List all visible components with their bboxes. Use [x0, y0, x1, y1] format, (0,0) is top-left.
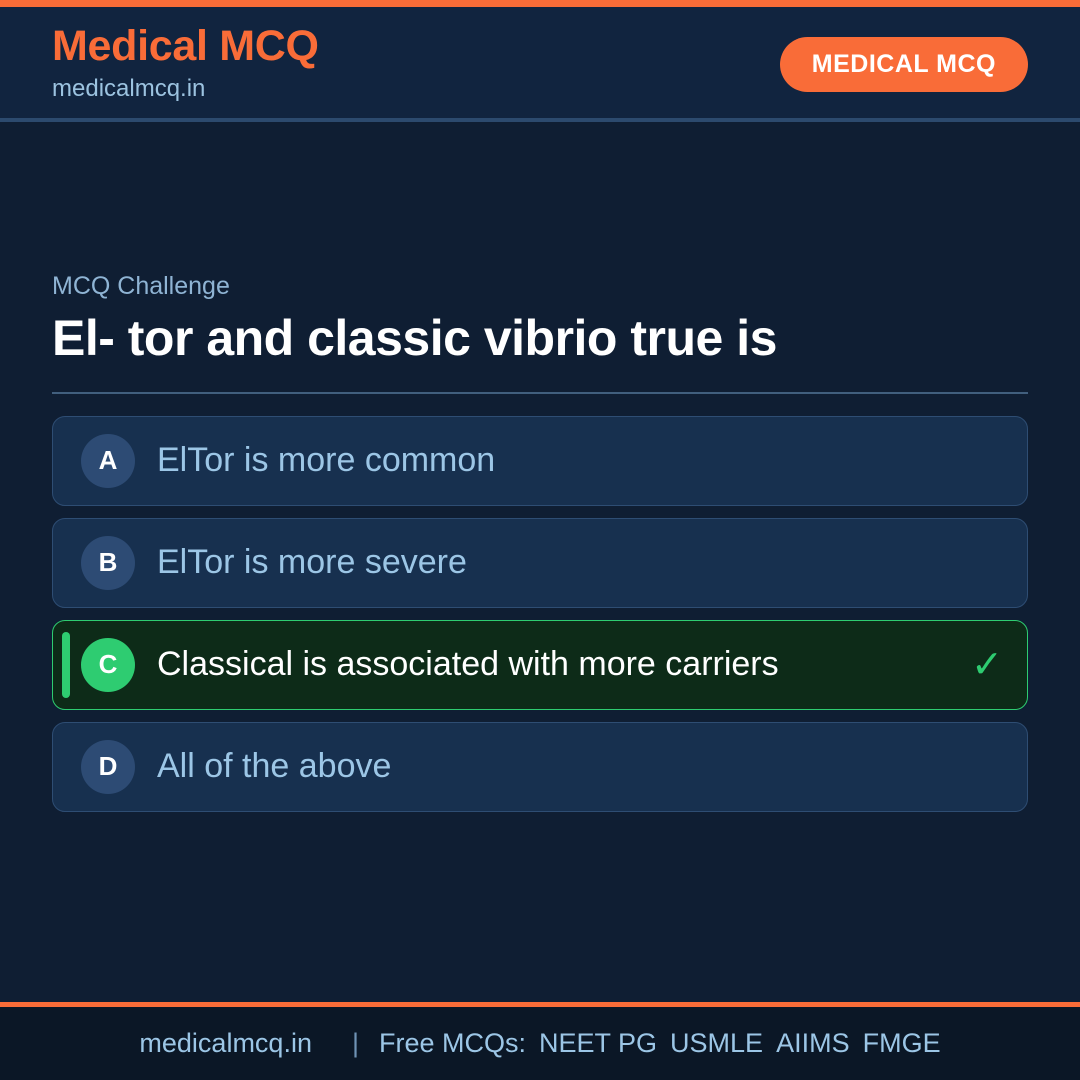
- option-d-label: All of the above: [157, 746, 391, 787]
- option-a-label: ElTor is more common: [157, 440, 495, 481]
- option-c-label: Classical is associated with more carrie…: [157, 644, 779, 685]
- top-accent-rule: [0, 0, 1080, 7]
- header: Medical MCQ medicalmcq.in MEDICAL MCQ: [0, 7, 1080, 122]
- footer-separator: |: [352, 1028, 359, 1059]
- header-badge: MEDICAL MCQ: [780, 37, 1028, 92]
- question-divider: [52, 392, 1028, 394]
- question-text: El- tor and classic vibrio true is: [52, 309, 1028, 368]
- option-c[interactable]: C Classical is associated with more carr…: [52, 620, 1028, 710]
- brand-title: Medical MCQ: [52, 24, 319, 69]
- mcq-card: Medical MCQ medicalmcq.in MEDICAL MCQ MC…: [0, 0, 1080, 1080]
- footer-exams-label: Free MCQs:: [379, 1028, 526, 1059]
- footer-exam-fmge: FMGE: [863, 1028, 941, 1059]
- option-c-badge: C: [81, 638, 135, 692]
- eyebrow-label: MCQ Challenge: [52, 271, 1028, 301]
- brand-subtitle: medicalmcq.in: [52, 73, 319, 104]
- main-content: MCQ Challenge El- tor and classic vibrio…: [0, 122, 1080, 1002]
- option-a[interactable]: A ElTor is more common ✓: [52, 416, 1028, 506]
- correct-accent-bar: [62, 632, 70, 698]
- check-icon: ✓: [971, 646, 1003, 684]
- option-b-label: ElTor is more severe: [157, 542, 467, 583]
- brand: Medical MCQ medicalmcq.in: [52, 24, 319, 104]
- option-b[interactable]: B ElTor is more severe ✓: [52, 518, 1028, 608]
- footer-text: medicalmcq.in | Free MCQs: NEET PG USMLE…: [139, 1028, 940, 1059]
- option-a-badge: A: [81, 434, 135, 488]
- options-list: A ElTor is more common ✓ B ElTor is more…: [52, 416, 1028, 812]
- footer-exam-neetpg: NEET PG: [539, 1028, 657, 1059]
- footer-exam-aiims: AIIMS: [776, 1028, 850, 1059]
- option-d[interactable]: D All of the above ✓: [52, 722, 1028, 812]
- option-d-badge: D: [81, 740, 135, 794]
- footer: medicalmcq.in | Free MCQs: NEET PG USMLE…: [0, 1002, 1080, 1080]
- option-b-badge: B: [81, 536, 135, 590]
- footer-exam-usmle: USMLE: [670, 1028, 763, 1059]
- footer-site-link[interactable]: medicalmcq.in: [139, 1028, 312, 1059]
